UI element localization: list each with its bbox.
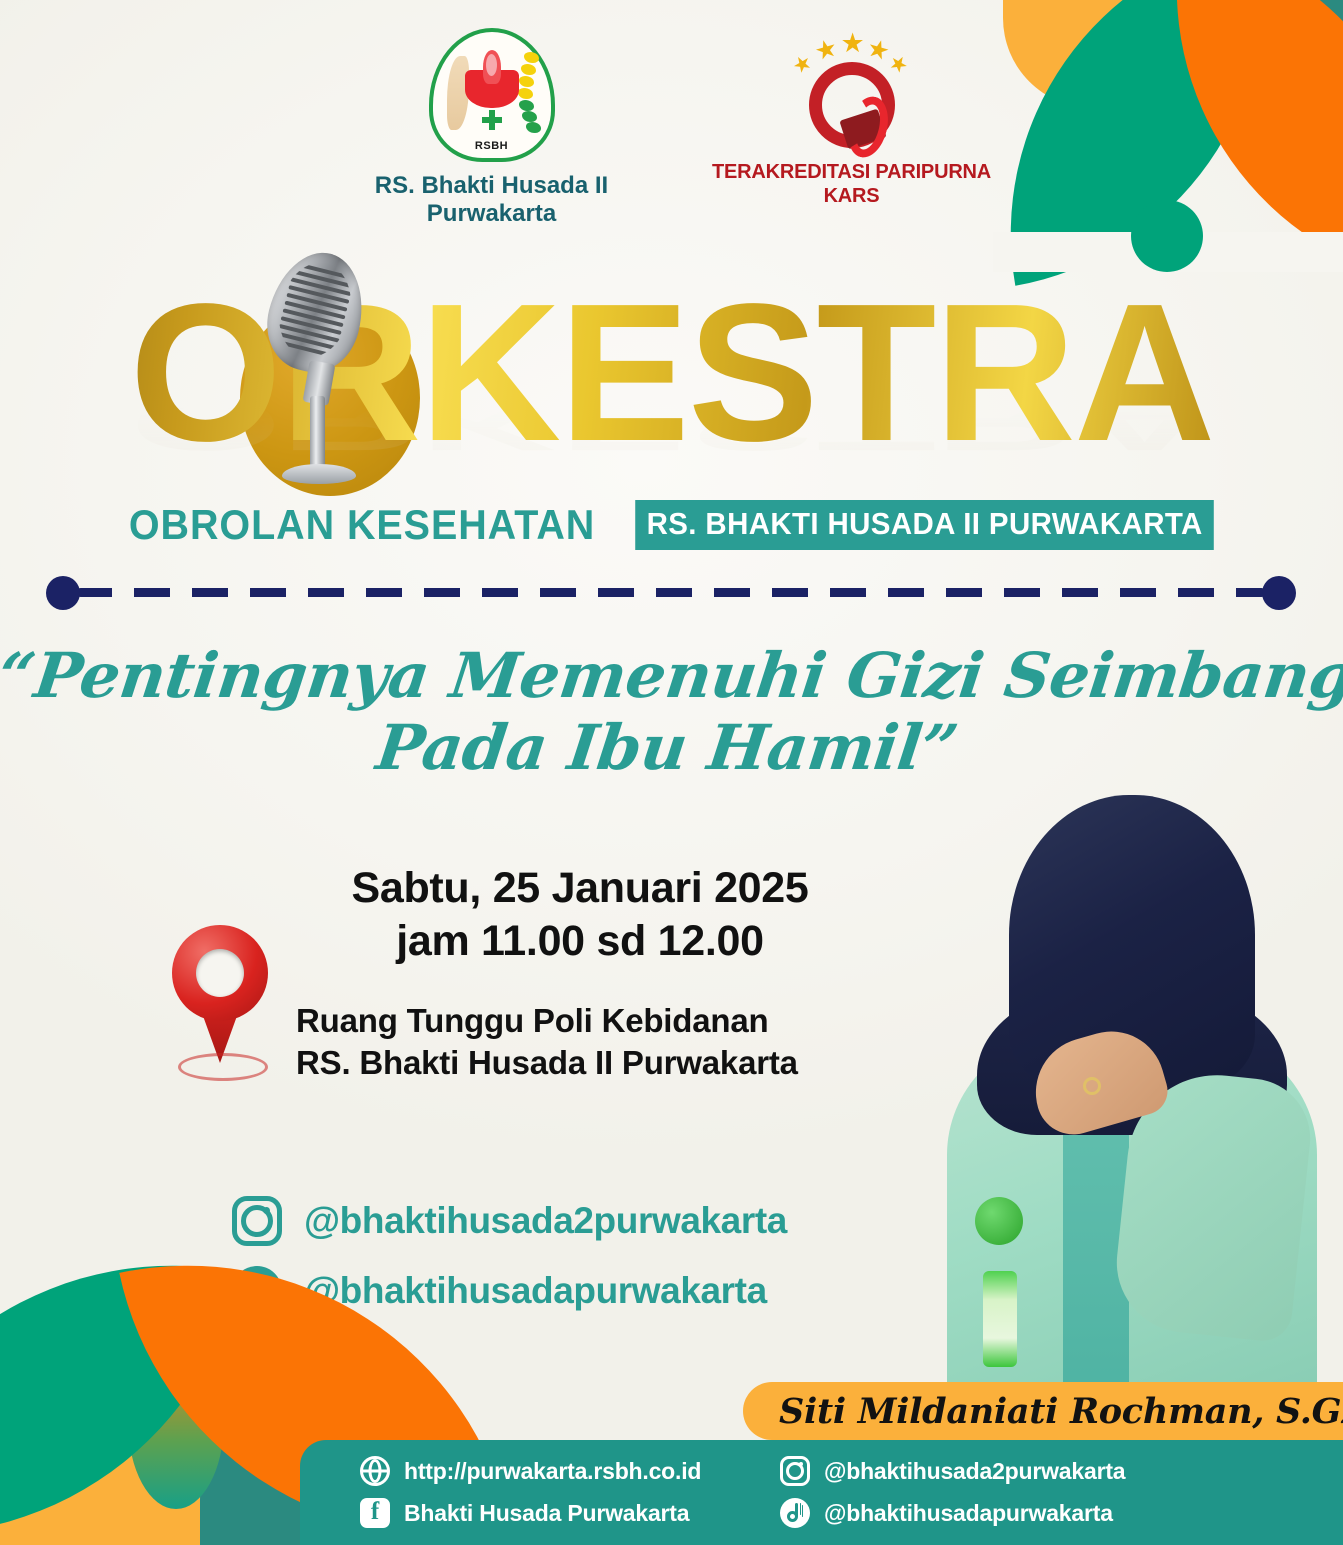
instagram-icon-footer [780, 1456, 810, 1486]
social-item-instagram[interactable]: @bhaktihusada2purwakarta [232, 1196, 872, 1246]
tulip-icon [465, 54, 519, 114]
footer-column-right: @bhaktihusada2purwakarta @bhaktihusadapu… [780, 1456, 1125, 1528]
speaker-name-banner: Siti Mildaniati Rochman, S.Gz. [743, 1382, 1343, 1440]
instagram-icon [232, 1196, 282, 1246]
instagram-label: @bhaktihusada2purwakarta [824, 1458, 1125, 1485]
instagram-handle: @bhaktihusada2purwakarta [304, 1200, 787, 1242]
hospital-badge: RS. BHAKTI HUSADA II PURWAKARTA [635, 500, 1214, 550]
quote-line-2: Pada Ibu Hamil” [0, 712, 1343, 784]
quote-line-1: “Pentingnya Memenuhi Gizi Seimbang [0, 640, 1343, 712]
speaker-name: Siti Mildaniati Rochman, S.Gz. [779, 1391, 1343, 1432]
tiktok-icon-footer [780, 1498, 810, 1528]
poster-canvas: RSBH RS. Bhakti Husada II Purwakarta ★★★… [0, 0, 1343, 1545]
main-title-block: ORKESTRA ORKESTRA [0, 258, 1343, 508]
footer-tiktok[interactable]: @bhaktihusadapurwakarta [780, 1498, 1125, 1528]
footer-instagram[interactable]: @bhaktihusada2purwakarta [780, 1456, 1125, 1486]
rsbh-monogram: RSBH [475, 140, 508, 152]
accreditation-logo-block: ★★★★★ TERAKREDITASI PARIPURNA KARS [702, 28, 1002, 229]
event-date: Sabtu, 25 Januari 2025 [300, 862, 860, 915]
accreditation-line2: KARS [712, 184, 991, 208]
id-badge-card [983, 1271, 1017, 1367]
subtitle-row: OBROLAN KESEHATAN RS. BHAKTI HUSADA II P… [0, 500, 1343, 550]
medical-cross-icon [482, 110, 502, 130]
page-title: ORKESTRA [0, 258, 1343, 488]
accreditation-caption: TERAKREDITASI PARIPURNA KARS [712, 160, 991, 208]
venue-line-2: RS. Bhakti Husada II Purwakarta [296, 1042, 936, 1084]
footer-bar: http://purwakarta.rsbh.co.id Bhakti Husa… [300, 1440, 1343, 1545]
id-badge-reel [975, 1197, 1023, 1245]
finger-ring [1083, 1077, 1101, 1095]
divider-dot-left [46, 576, 80, 610]
divider-dot-right [1262, 576, 1296, 610]
event-datetime: Sabtu, 25 Januari 2025 jam 11.00 sd 12.0… [300, 862, 860, 968]
header-logos: RSBH RS. Bhakti Husada II Purwakarta ★★★… [0, 28, 1343, 229]
event-time: jam 11.00 sd 12.00 [300, 915, 860, 968]
hospital-logo-block: RSBH RS. Bhakti Husada II Purwakarta [342, 28, 642, 229]
facebook-label: Bhakti Husada Purwakarta [404, 1500, 689, 1527]
globe-icon [360, 1456, 390, 1486]
map-pin-icon [160, 925, 280, 1085]
hospital-name-caption: RS. Bhakti Husada II Purwakarta [375, 172, 608, 229]
divider-dashes [76, 588, 1266, 597]
rsbh-shield-icon: RSBH [429, 28, 555, 162]
footer-website[interactable]: http://purwakarta.rsbh.co.id [360, 1456, 760, 1486]
event-venue: Ruang Tunggu Poli Kebidanan RS. Bhakti H… [296, 1000, 936, 1084]
microphone-icon [246, 246, 386, 496]
subtitle-text: OBROLAN KESEHATAN [129, 501, 595, 549]
footer-column-left: http://purwakarta.rsbh.co.id Bhakti Husa… [360, 1456, 760, 1528]
dashed-divider [46, 572, 1296, 612]
kars-logo-icon: ★★★★★ [787, 28, 917, 156]
accreditation-line1: TERAKREDITASI PARIPURNA [712, 160, 991, 184]
topic-quote: “Pentingnya Memenuhi Gizi Seimbang Pada … [0, 640, 1343, 784]
speaker-photo [913, 785, 1343, 1395]
venue-line-1: Ruang Tunggu Poli Kebidanan [296, 1000, 936, 1042]
hospital-name-line2: Purwakarta [375, 200, 608, 228]
footer-facebook[interactable]: Bhakti Husada Purwakarta [360, 1498, 760, 1528]
tiktok-label: @bhaktihusadapurwakarta [824, 1500, 1113, 1527]
website-label: http://purwakarta.rsbh.co.id [404, 1458, 701, 1485]
hospital-name-line1: RS. Bhakti Husada II [375, 172, 608, 200]
facebook-icon [360, 1498, 390, 1528]
